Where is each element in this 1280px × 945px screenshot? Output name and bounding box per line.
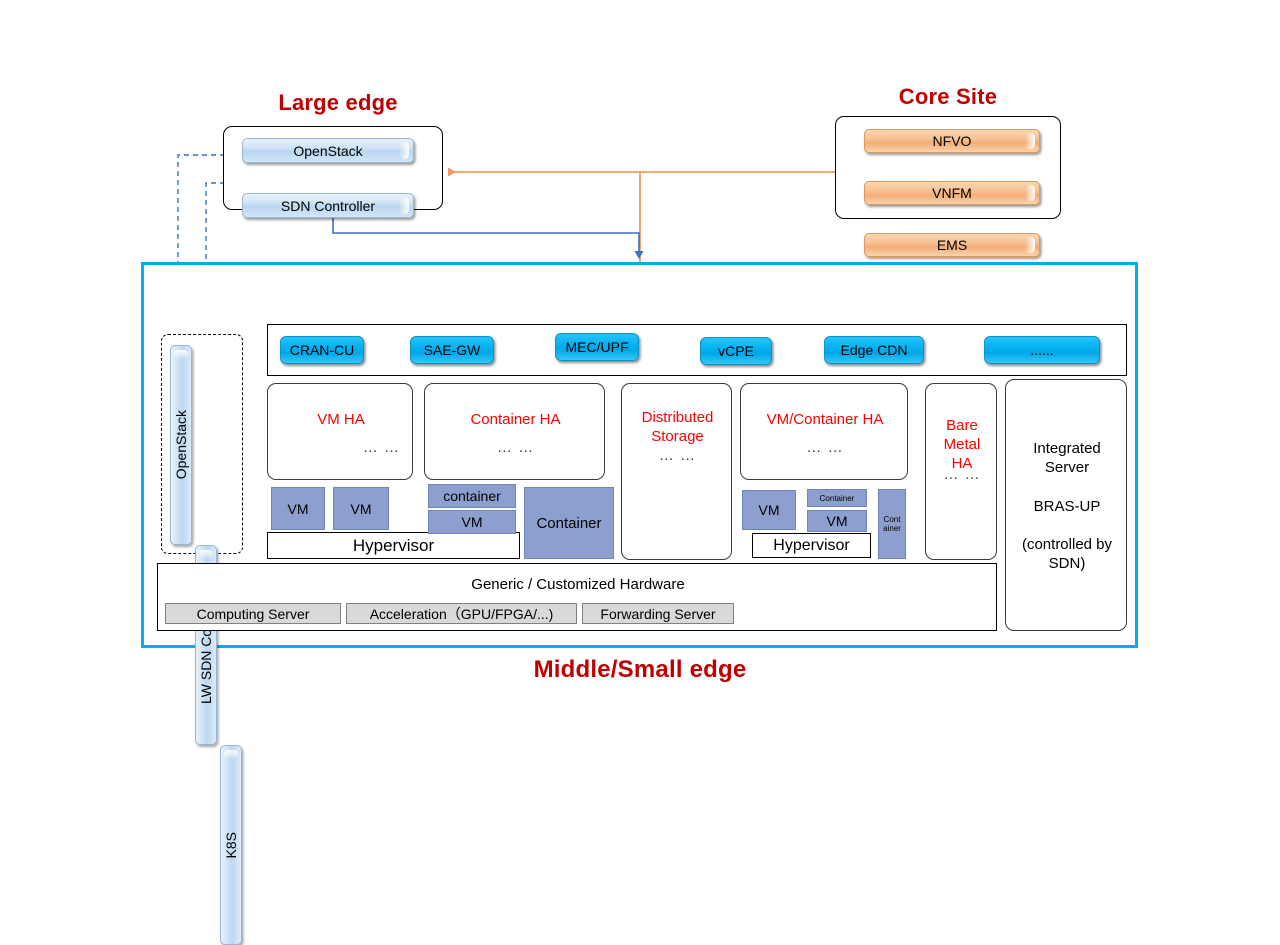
large-edge-title: Large edge [223,90,453,116]
core-site-title: Core Site [835,84,1061,110]
vm-ha-box: VM HA … … [267,383,413,480]
container-label: Container [820,494,855,503]
large-edge-item-label: OpenStack [293,143,362,159]
container-label: Container [882,515,902,533]
service-label: vCPE [718,343,754,359]
large-edge-box: OpenStack SDN Controller [223,126,443,210]
hardware-title: Generic / Customized Hardware [158,576,998,593]
container-ha-dots: … … [425,439,606,456]
service-mec-upf[interactable]: MEC/UPF [555,333,639,361]
container-ha-box: Container HA … … [424,383,605,480]
integrated-server-line4: (controlled by [1006,536,1128,553]
services-row: CRAN-CU SAE-GW MEC/UPF vCPE Edge CDN ...… [267,324,1127,376]
container-ha-container: container [428,484,516,508]
service-edge-cdn[interactable]: Edge CDN [824,336,924,364]
controller-label: OpenStack [173,410,189,479]
hardware-box: Generic / Customized Hardware Computing … [157,563,997,631]
vm-ha-hypervisor: Hypervisor [267,532,520,559]
vm-ha-vm-2: VM [333,487,389,530]
core-site-item-label: EMS [937,237,967,253]
service-cran-cu[interactable]: CRAN-CU [280,336,364,364]
large-edge-item-label: SDN Controller [281,198,375,214]
container-ha-big-container: Container [524,487,614,559]
service-vcpe[interactable]: vCPE [700,337,772,365]
vm-label: VM [827,513,848,529]
controller-openstack[interactable]: OpenStack [170,345,192,545]
vm-ha-dots: … … [268,439,400,456]
service-sae-gw[interactable]: SAE-GW [410,336,494,364]
core-site-item-label: VNFM [932,185,972,201]
core-site-item-ems[interactable]: EMS [864,233,1040,257]
integrated-server-line3: BRAS-UP [1006,498,1128,515]
vm-ha-title: VM HA [268,411,414,428]
container-ha-title: Container HA [425,411,606,428]
controller-k8s[interactable]: K8S [220,745,242,945]
hypervisor-label: Hypervisor [353,536,434,556]
core-site-item-nfvo[interactable]: NFVO [864,129,1040,153]
distributed-storage-box: Distributed Storage … … [621,383,732,560]
distributed-storage-title-line2: Storage [622,428,733,445]
bare-metal-ha-title-line1: Bare [926,417,998,434]
integrated-server-box: Integrated Server BRAS-UP (controlled by… [1005,379,1127,631]
controllers-box: OpenStack LW SDN Controller K8S [161,334,243,554]
distributed-storage-title-line1: Distributed [622,409,733,426]
core-site-box: NFVO VNFM EMS [835,116,1061,219]
hardware-button-label: Forwarding Server [600,606,715,622]
vm-label: VM [288,501,309,517]
large-edge-item-sdn-controller[interactable]: SDN Controller [242,193,414,218]
container-label: Container [536,515,601,532]
hardware-button-label: Acceleration（GPU/FPGA/...) [370,604,554,624]
vm-label: VM [462,514,483,530]
vm-container-ha-vm: VM [742,490,796,530]
vm-container-ha-box: VM/Container HA … … [740,383,908,480]
vm-container-ha-vm-small: VM [807,510,867,532]
integrated-server-line1: Integrated [1006,440,1128,457]
service-label: ...... [1030,342,1053,358]
vm-label: VM [759,502,780,518]
container-ha-vm: VM [428,510,516,534]
core-site-item-vnfm[interactable]: VNFM [864,181,1040,205]
service-more[interactable]: ...... [984,336,1100,364]
bare-metal-ha-title-line2: Metal [926,436,998,453]
integrated-server-line2: Server [1006,459,1128,476]
middle-small-edge-title: Middle/Small edge [400,656,880,684]
hypervisor-label: Hypervisor [773,537,849,555]
vm-label: VM [351,501,372,517]
service-label: CRAN-CU [290,342,355,358]
core-site-item-label: NFVO [933,133,972,149]
vm-ha-vm-1: VM [271,487,325,530]
hardware-button-acceleration[interactable]: Acceleration（GPU/FPGA/...) [346,603,577,624]
vm-container-ha-container-small: Container [807,489,867,507]
service-label: SAE-GW [424,342,481,358]
container-label: container [443,488,501,504]
vm-container-ha-hypervisor: Hypervisor [752,533,871,558]
service-label: Edge CDN [841,342,908,358]
hardware-button-label: Computing Server [197,606,310,622]
service-label: MEC/UPF [566,339,629,355]
vm-container-ha-title: VM/Container HA [741,411,909,428]
hardware-button-forwarding-server[interactable]: Forwarding Server [582,603,734,624]
distributed-storage-dots: … … [622,447,733,464]
vm-container-ha-side-container: Container [878,489,906,559]
integrated-server-line5: SDN) [1006,555,1128,572]
hardware-button-computing-server[interactable]: Computing Server [165,603,341,624]
vm-container-ha-dots: … … [741,439,909,456]
bare-metal-ha-box: Bare Metal HA … … [925,383,997,560]
large-edge-item-openstack[interactable]: OpenStack [242,138,414,163]
bare-metal-ha-dots: … … [926,466,998,483]
controller-label: K8S [223,832,239,858]
